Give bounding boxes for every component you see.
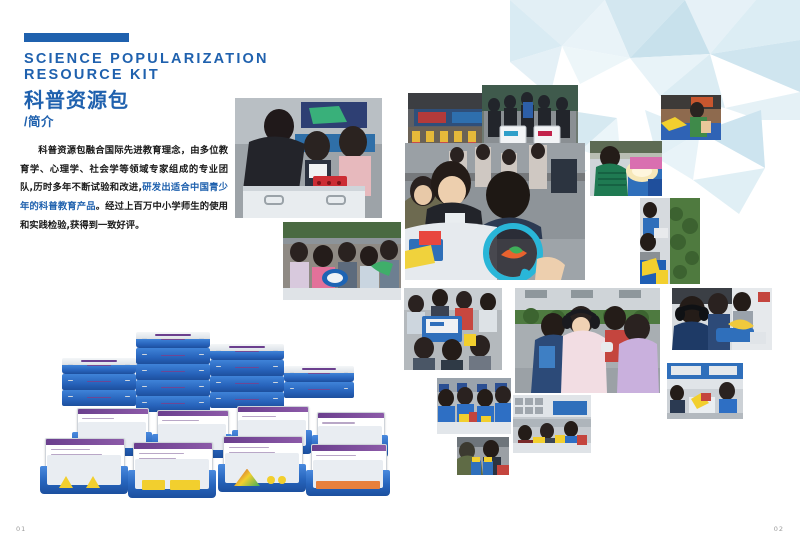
page-number-right: 02 <box>774 525 784 533</box>
photo-outdoor-row-of-kits <box>640 198 700 284</box>
kit-box-closed <box>62 390 136 406</box>
photo-students-headphone-listening <box>672 288 772 350</box>
accent-bar <box>24 33 129 42</box>
photo-students-magnifier-experiment <box>405 143 585 280</box>
kit-box-closed <box>210 376 284 392</box>
photo-teachers-with-two-kits <box>482 85 578 147</box>
product-kit-display <box>18 330 398 505</box>
photo-blue-uniform-students-row <box>437 378 511 434</box>
kit-box-closed <box>284 366 354 382</box>
kit-box-closed <box>284 382 354 398</box>
photo-boy-light-disc <box>590 141 662 196</box>
photo-boy-green-sleeve-building <box>661 95 721 140</box>
photo-exhibition-hall-wide <box>513 395 591 453</box>
photo-students-crowd-kit-table <box>404 288 502 370</box>
page-number-left: 01 <box>16 525 26 533</box>
kit-box-closed <box>210 360 284 376</box>
photo-adults-trying-kit <box>457 437 509 475</box>
intro-paragraph: 科普资源包融合国际先进教育理念，由多位教育学、心理学、社会学等领域专家组成的专业… <box>20 142 228 235</box>
kit-box-open <box>40 438 128 494</box>
photo-expo-booth-crowd <box>667 363 743 419</box>
kit-box-open <box>128 442 216 498</box>
kit-box-closed <box>62 358 136 374</box>
page-title-english: SCIENCE POPULARIZATION RESOURCE KIT <box>24 51 354 83</box>
kit-box-open <box>218 436 306 492</box>
photo-children-headphones-outdoor <box>515 288 660 393</box>
kit-box-closed <box>136 380 210 396</box>
kit-box-closed <box>136 364 210 380</box>
kit-box-open <box>306 444 390 496</box>
photo-children-seated-activity <box>283 222 401 300</box>
kit-box-closed <box>210 344 284 360</box>
kit-box-closed <box>62 374 136 390</box>
kit-box-closed <box>136 332 210 348</box>
photo-teacher-demonstrating <box>235 98 382 218</box>
brochure-page: SCIENCE POPULARIZATION RESOURCE KIT 科普资源… <box>0 0 800 546</box>
kit-box-closed <box>136 348 210 364</box>
